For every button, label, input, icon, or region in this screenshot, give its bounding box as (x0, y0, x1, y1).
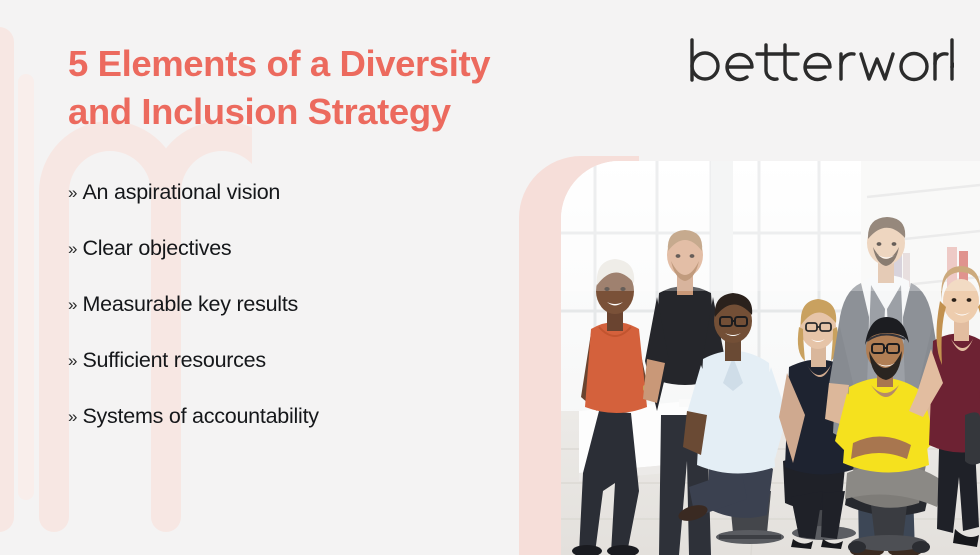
bullet-list: » An aspirational vision » Clear objecti… (68, 182, 538, 462)
bullet-label: Clear objectives (82, 238, 231, 260)
list-item: » Clear objectives (68, 238, 538, 294)
team-photo (561, 161, 980, 555)
list-item: » Measurable key results (68, 294, 538, 350)
list-item: » Systems of accountability (68, 406, 538, 462)
bullet-label: Sufficient resources (82, 350, 265, 372)
bullet-marker-icon: » (68, 296, 77, 313)
title-line-1: 5 Elements of a Diversity (68, 40, 568, 88)
bullet-marker-icon: » (68, 352, 77, 369)
bullet-marker-icon: » (68, 408, 77, 425)
text-column: 5 Elements of a Diversity and Inclusion … (0, 0, 560, 555)
bullet-marker-icon: » (68, 184, 77, 201)
bullet-label: Measurable key results (82, 294, 298, 316)
slide-title: 5 Elements of a Diversity and Inclusion … (68, 40, 568, 136)
list-item: » An aspirational vision (68, 182, 538, 238)
bullet-marker-icon: » (68, 240, 77, 257)
slide-canvas: 5 Elements of a Diversity and Inclusion … (0, 0, 980, 555)
betterworks-logo (686, 36, 954, 88)
bullet-label: An aspirational vision (82, 182, 280, 204)
bullet-label: Systems of accountability (82, 406, 318, 428)
list-item: » Sufficient resources (68, 350, 538, 406)
title-line-2: and Inclusion Strategy (68, 88, 568, 136)
